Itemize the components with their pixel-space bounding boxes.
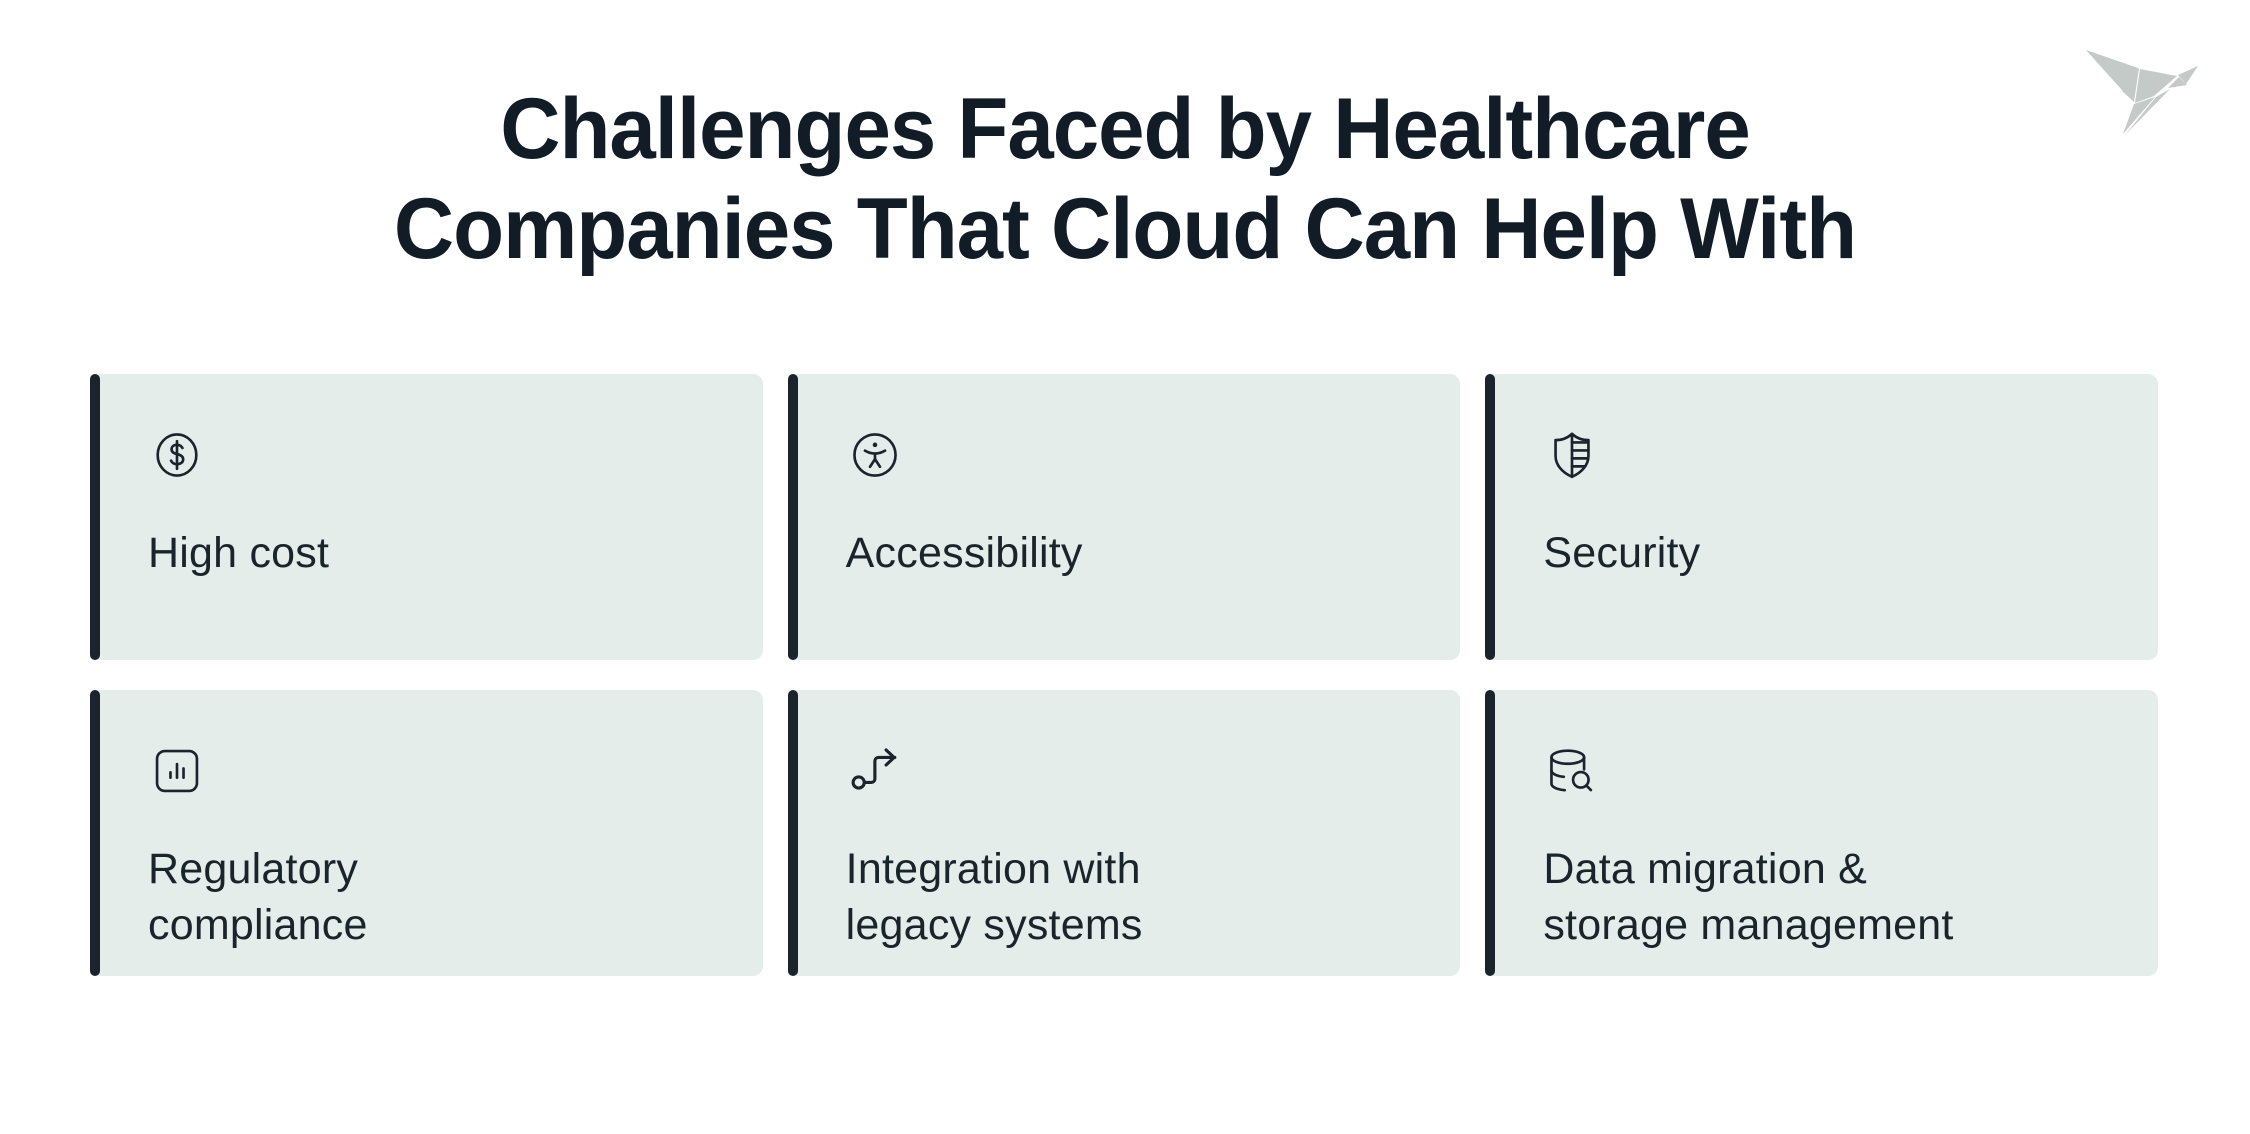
challenges-card-grid: High cost Accessibility [90, 374, 2158, 976]
card-regulatory-compliance[interactable]: Regulatory compliance [90, 690, 763, 976]
card-integration-legacy-systems[interactable]: Integration with legacy systems [788, 690, 1461, 976]
slide: Challenges Faced by Healthcare Companies… [0, 0, 2250, 1134]
card-label: Integration with legacy systems [846, 842, 1461, 954]
card-label: Accessibility [846, 526, 1461, 582]
accessibility-person-icon [846, 426, 904, 484]
page-title: Challenges Faced by Healthcare Companies… [208, 80, 2041, 280]
card-label: Regulatory compliance [148, 842, 763, 954]
card-label: Security [1543, 526, 2158, 582]
card-data-migration-storage[interactable]: Data migration & storage management [1485, 690, 2158, 976]
bar-chart-square-icon [148, 742, 206, 800]
flow-arrow-icon [846, 742, 904, 800]
database-search-icon [1543, 742, 1601, 800]
card-label: High cost [148, 526, 763, 582]
dollar-circle-icon [148, 426, 206, 484]
shield-striped-icon [1543, 426, 1601, 484]
card-security[interactable]: Security [1485, 374, 2158, 660]
card-label: Data migration & storage management [1543, 842, 2158, 954]
card-high-cost[interactable]: High cost [90, 374, 763, 660]
title-block: Challenges Faced by Healthcare Companies… [0, 80, 2250, 280]
card-accessibility[interactable]: Accessibility [788, 374, 1461, 660]
